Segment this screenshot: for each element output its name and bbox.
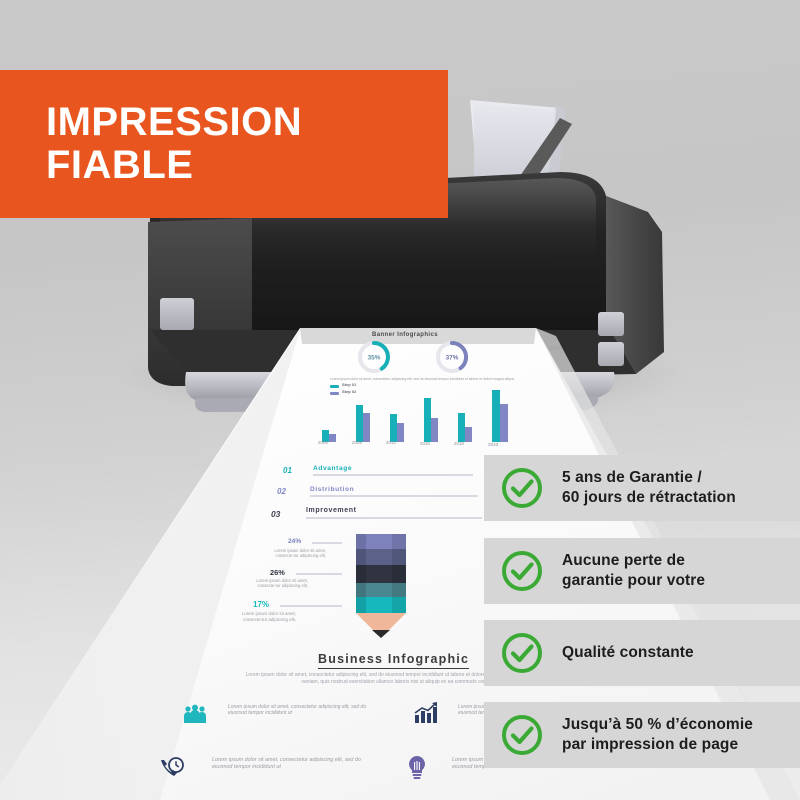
check-circle-icon — [500, 631, 544, 675]
poster-canvas: Banner Infographics 35% 37% Lorem ipsum … — [0, 0, 800, 800]
infographic-header-sub: Lorem ipsum dolor sit amet, consectetur … — [330, 377, 520, 382]
feature-text-4: Jusqu’à 50 % d’économie par impression d… — [562, 715, 753, 755]
headline-line-1: IMPRESSION — [46, 101, 448, 144]
donut-1-label: 35% — [368, 355, 381, 362]
bar-2015-s2 — [431, 418, 438, 442]
feature-2-line-1: Aucune perte de — [562, 551, 705, 571]
funnel-leader-24 — [312, 542, 342, 544]
business-infographic-title: Business Infographic — [318, 652, 469, 666]
funnel-leader-26 — [296, 573, 342, 575]
step-rule-02 — [310, 495, 478, 497]
funnel-pct-24: 24% — [288, 538, 301, 545]
donut-chart-1: 35% — [360, 343, 388, 371]
bar-2015-s1 — [424, 398, 431, 442]
feature-text-2: Aucune perte de garantie pour votre — [562, 551, 705, 591]
check-circle-icon — [500, 713, 544, 757]
headline-banner: IMPRESSION FIABLE — [0, 70, 448, 218]
funnel-leader-17 — [280, 605, 342, 607]
step-title-01: Advantage — [313, 465, 352, 472]
blurb-text-1: Lorem ipsum dolor sit amet, consectetur … — [228, 704, 368, 717]
years-bar-chart — [300, 386, 530, 442]
funnel-pct-26: 26% — [270, 568, 285, 577]
bar-2018-s2 — [465, 427, 472, 442]
headline-line-2: FIABLE — [46, 144, 448, 187]
feature-4-line-2: par impression de page — [562, 735, 753, 755]
check-circle-icon — [500, 549, 544, 593]
bar-xtick-2009: 2009 — [352, 440, 362, 445]
check-circle-icon — [500, 466, 544, 510]
donut-charts: 35% 37% — [330, 340, 510, 374]
blurb-text-3: Lorem ipsum dolor sit amet, consectetur … — [212, 757, 362, 771]
lightbulb-idea-icon — [406, 756, 428, 780]
pencil-funnel-chart — [336, 532, 426, 644]
bar-xtick-2006: 2006 — [318, 440, 328, 445]
bar-xtick-2023: 2023 — [488, 442, 498, 447]
bar-2012-s1 — [390, 414, 397, 442]
donut-2-label: 37% — [446, 355, 459, 362]
funnel-pct-17: 17% — [253, 600, 269, 609]
growth-bar-chart-icon — [414, 702, 438, 724]
feature-2-line-2: garantie pour votre — [562, 571, 705, 591]
donut-chart-2: 37% — [438, 343, 466, 371]
feature-panel-1[interactable]: 5 ans de Garantie / 60 jours de rétracta… — [484, 455, 800, 521]
funnel-text-26: Lorem ipsum dolor sit amet, consecte-tur… — [246, 578, 308, 589]
feature-panel-4[interactable]: Jusqu’à 50 % d’économie par impression d… — [484, 702, 800, 768]
bar-2023-s2 — [500, 404, 508, 442]
bar-2012-s2 — [397, 423, 404, 442]
step-number-01: 01 — [283, 466, 292, 475]
step-title-03: Improvement — [306, 507, 357, 514]
feature-3-line-1: Qualité constante — [562, 643, 694, 663]
bar-xtick-2012: 2012 — [386, 440, 396, 445]
infographic-header-title: Banner Infographics — [372, 332, 438, 338]
bar-xtick-2015: 2015 — [420, 441, 430, 446]
feature-text-1: 5 ans de Garantie / 60 jours de rétracta… — [562, 468, 736, 508]
feature-text-3: Qualité constante — [562, 643, 694, 663]
pencil-tip — [372, 630, 390, 638]
step-number-03: 03 — [271, 509, 280, 519]
bar-2023-s1 — [492, 390, 500, 442]
bar-2006-s2 — [329, 434, 336, 442]
feature-panel-3[interactable]: Qualité constante — [484, 620, 800, 686]
step-rule-01 — [313, 474, 473, 476]
feature-1-line-1: 5 ans de Garantie / — [562, 468, 736, 488]
bar-2009-s1 — [356, 405, 363, 442]
step-number-02: 02 — [277, 487, 286, 496]
funnel-text-17: Lorem ipsum dolor sit amet, consecte-tur… — [232, 611, 296, 622]
clock-phone-icon — [159, 756, 185, 780]
feature-1-line-2: 60 jours de rétractation — [562, 488, 736, 508]
bar-2018-s1 — [458, 413, 465, 442]
people-group-icon — [183, 704, 207, 724]
bar-2009-s2 — [363, 413, 370, 442]
step-title-02: Distribution — [310, 486, 354, 493]
step-rule-03 — [306, 517, 482, 519]
pencil-body — [356, 534, 406, 613]
feature-4-line-1: Jusqu’à 50 % d’économie — [562, 715, 753, 735]
feature-panel-2[interactable]: Aucune perte de garantie pour votre — [484, 538, 800, 604]
bar-xtick-2018: 2018 — [454, 441, 464, 446]
funnel-text-24: Lorem ipsum dolor sit amet, consecte-tur… — [266, 548, 326, 559]
